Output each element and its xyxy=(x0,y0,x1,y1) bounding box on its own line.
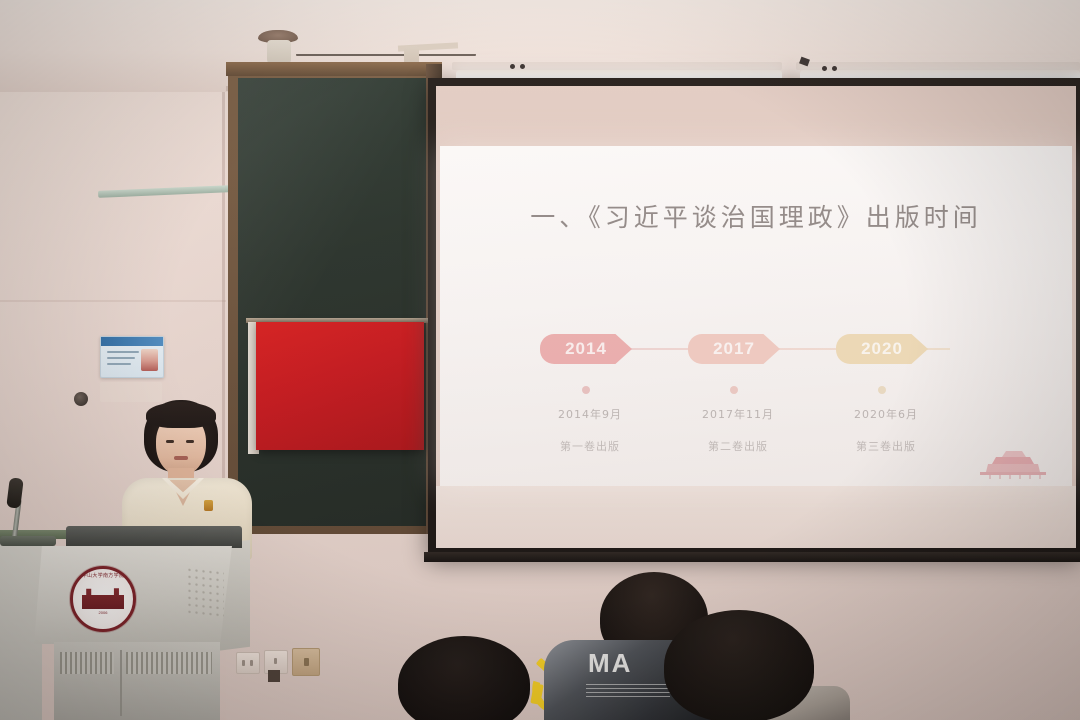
timeline-dot xyxy=(730,386,738,394)
lectern-desktop xyxy=(66,526,242,548)
jacket-print-lines xyxy=(586,684,670,700)
screen-lower-band xyxy=(436,486,1076,548)
timeline-column-2020: 2020年6月 第三卷出版 xyxy=(831,406,941,454)
slide-title: 一、《习近平谈治国理政》出版时间 xyxy=(440,198,1072,234)
light-fitting-dot xyxy=(520,64,525,69)
timeline-date: 2017年11月 xyxy=(683,406,793,422)
timeline-date: 2020年6月 xyxy=(831,406,941,422)
audience-head-right xyxy=(664,610,814,720)
timeline-marker-2020: 2020 xyxy=(836,334,928,364)
publication-timeline: 2014 2017 2020 2014年9月 第一卷出版 2017年11月 第二… xyxy=(532,324,982,454)
wall-network-port[interactable] xyxy=(292,648,320,676)
lectern-speaker-grille xyxy=(186,566,224,620)
timeline-description: 第二卷出版 xyxy=(683,438,793,454)
card-portrait-photo xyxy=(141,349,158,371)
timeline-marker-2017: 2017 xyxy=(688,334,780,364)
wall-seam-horizontal-lower xyxy=(0,300,226,302)
lectern-door-seam xyxy=(120,650,122,716)
blackboard-glare xyxy=(238,78,434,526)
presenter-fringe xyxy=(146,402,216,428)
timeline-year-label: 2017 xyxy=(713,339,755,359)
light-fitting-dot xyxy=(822,66,827,71)
timeline-dot xyxy=(878,386,886,394)
light-fitting-dot xyxy=(832,66,837,71)
screen-bottom-bar xyxy=(424,552,1080,562)
wall-hook xyxy=(74,392,88,406)
wall-power-outlet[interactable] xyxy=(236,652,260,674)
university-crest: 中山大学南方学院 2006 xyxy=(70,566,136,632)
crest-year: 2006 xyxy=(73,610,133,615)
wall-notice-card xyxy=(100,336,164,378)
blackboard-top-rail xyxy=(226,62,442,76)
timeline-column-2014: 2014年9月 第一卷出版 xyxy=(535,406,645,454)
jacket-text: MA xyxy=(588,648,632,679)
cpc-party-flag xyxy=(256,322,424,450)
wall-notice-subtext xyxy=(100,382,162,402)
lectern-vent-left xyxy=(60,652,114,674)
timeline-dot xyxy=(582,386,590,394)
timeline-year-label: 2014 xyxy=(565,339,607,359)
timeline-column-2017: 2017年11月 第二卷出版 xyxy=(683,406,793,454)
crest-building-icon xyxy=(82,583,124,609)
card-header-band xyxy=(101,337,163,346)
crest-name: 中山大学南方学院 xyxy=(73,572,133,579)
light-mount-left xyxy=(452,62,782,70)
party-badge-icon xyxy=(204,500,213,511)
light-fitting-dot xyxy=(510,64,515,69)
wall-cable-hole xyxy=(268,670,280,682)
timeline-date: 2014年9月 xyxy=(535,406,645,422)
lectern: 中山大学南方学院 2006 xyxy=(28,526,250,720)
presenter-mouth xyxy=(174,456,188,460)
classroom-photo: 一、《习近平谈治国理政》出版时间 2014 2017 2020 2014年9月 … xyxy=(0,0,1080,720)
light-mount-right xyxy=(796,62,1080,70)
projected-slide: 一、《习近平谈治国理政》出版时间 2014 2017 2020 2014年9月 … xyxy=(440,146,1072,486)
lectern-vent-right xyxy=(126,652,212,674)
timeline-year-label: 2020 xyxy=(861,339,903,359)
red-building-watermark-icon xyxy=(972,446,1054,480)
timeline-description: 第三卷出版 xyxy=(831,438,941,454)
timeline-description: 第一卷出版 xyxy=(535,438,645,454)
timeline-marker-2014: 2014 xyxy=(540,334,632,364)
